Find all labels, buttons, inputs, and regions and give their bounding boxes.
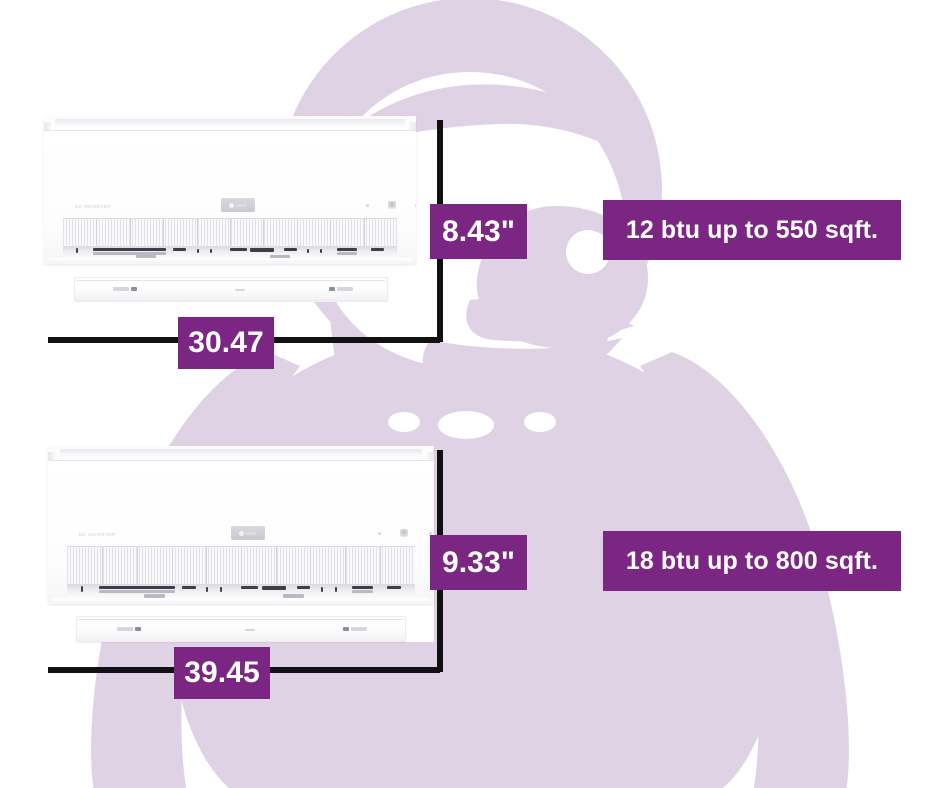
ac-lower-bar-panel (74, 277, 388, 301)
ac-dc-inverter-label: DC INVERTER (75, 204, 111, 210)
ac-lower-bar-seam (79, 619, 403, 620)
ac-top-intake-recess (60, 449, 423, 458)
ac-unit-12btu: DC INVERTER GREE (44, 116, 416, 302)
ac-ir-receiver (400, 529, 408, 537)
ac-badge-logo-mark (229, 203, 234, 208)
ac-intake-grille (67, 546, 414, 588)
ac-panel-seam (44, 130, 416, 131)
ac-status-led-left (366, 204, 369, 207)
ac-lower-bar-seam (77, 280, 385, 281)
ac-badge-brand-text: GREE (236, 203, 247, 208)
ac-brand-badge: GREE (231, 526, 265, 540)
ac-status-led-left (378, 532, 381, 535)
ac-unit-18btu: DC INVERTER GREE (48, 446, 434, 642)
ac-badge-logo-mark (239, 531, 244, 536)
ac-dc-inverter-label: DC INVERTER (79, 532, 115, 538)
ac-panel-seam (48, 460, 434, 461)
height-label-unit-1: 8.43" (430, 204, 527, 259)
height-label-unit-2: 9.33" (430, 535, 527, 590)
ac-badge-brand-text: GREE (246, 531, 257, 536)
infographic-canvas: DC INVERTER GREE (0, 0, 940, 788)
ac-bottom-skirt (48, 258, 413, 264)
ac-brand-badge: GREE (221, 198, 255, 212)
width-label-unit-1: 30.47 (178, 317, 274, 369)
capacity-label-unit-2: 18 btu up to 800 sqft. (603, 531, 901, 591)
width-label-unit-2: 39.45 (174, 647, 270, 699)
ac-ir-receiver (388, 201, 396, 209)
ac-status-led-right (415, 204, 416, 207)
capacity-label-unit-1: 12 btu up to 550 sqft. (603, 200, 901, 260)
ac-top-intake-recess (55, 119, 405, 128)
ac-body: DC INVERTER GREE (44, 116, 416, 264)
ac-bottom-skirt (52, 598, 430, 604)
ac-body: DC INVERTER GREE (48, 446, 434, 604)
ac-lower-bar-panel (76, 616, 406, 642)
